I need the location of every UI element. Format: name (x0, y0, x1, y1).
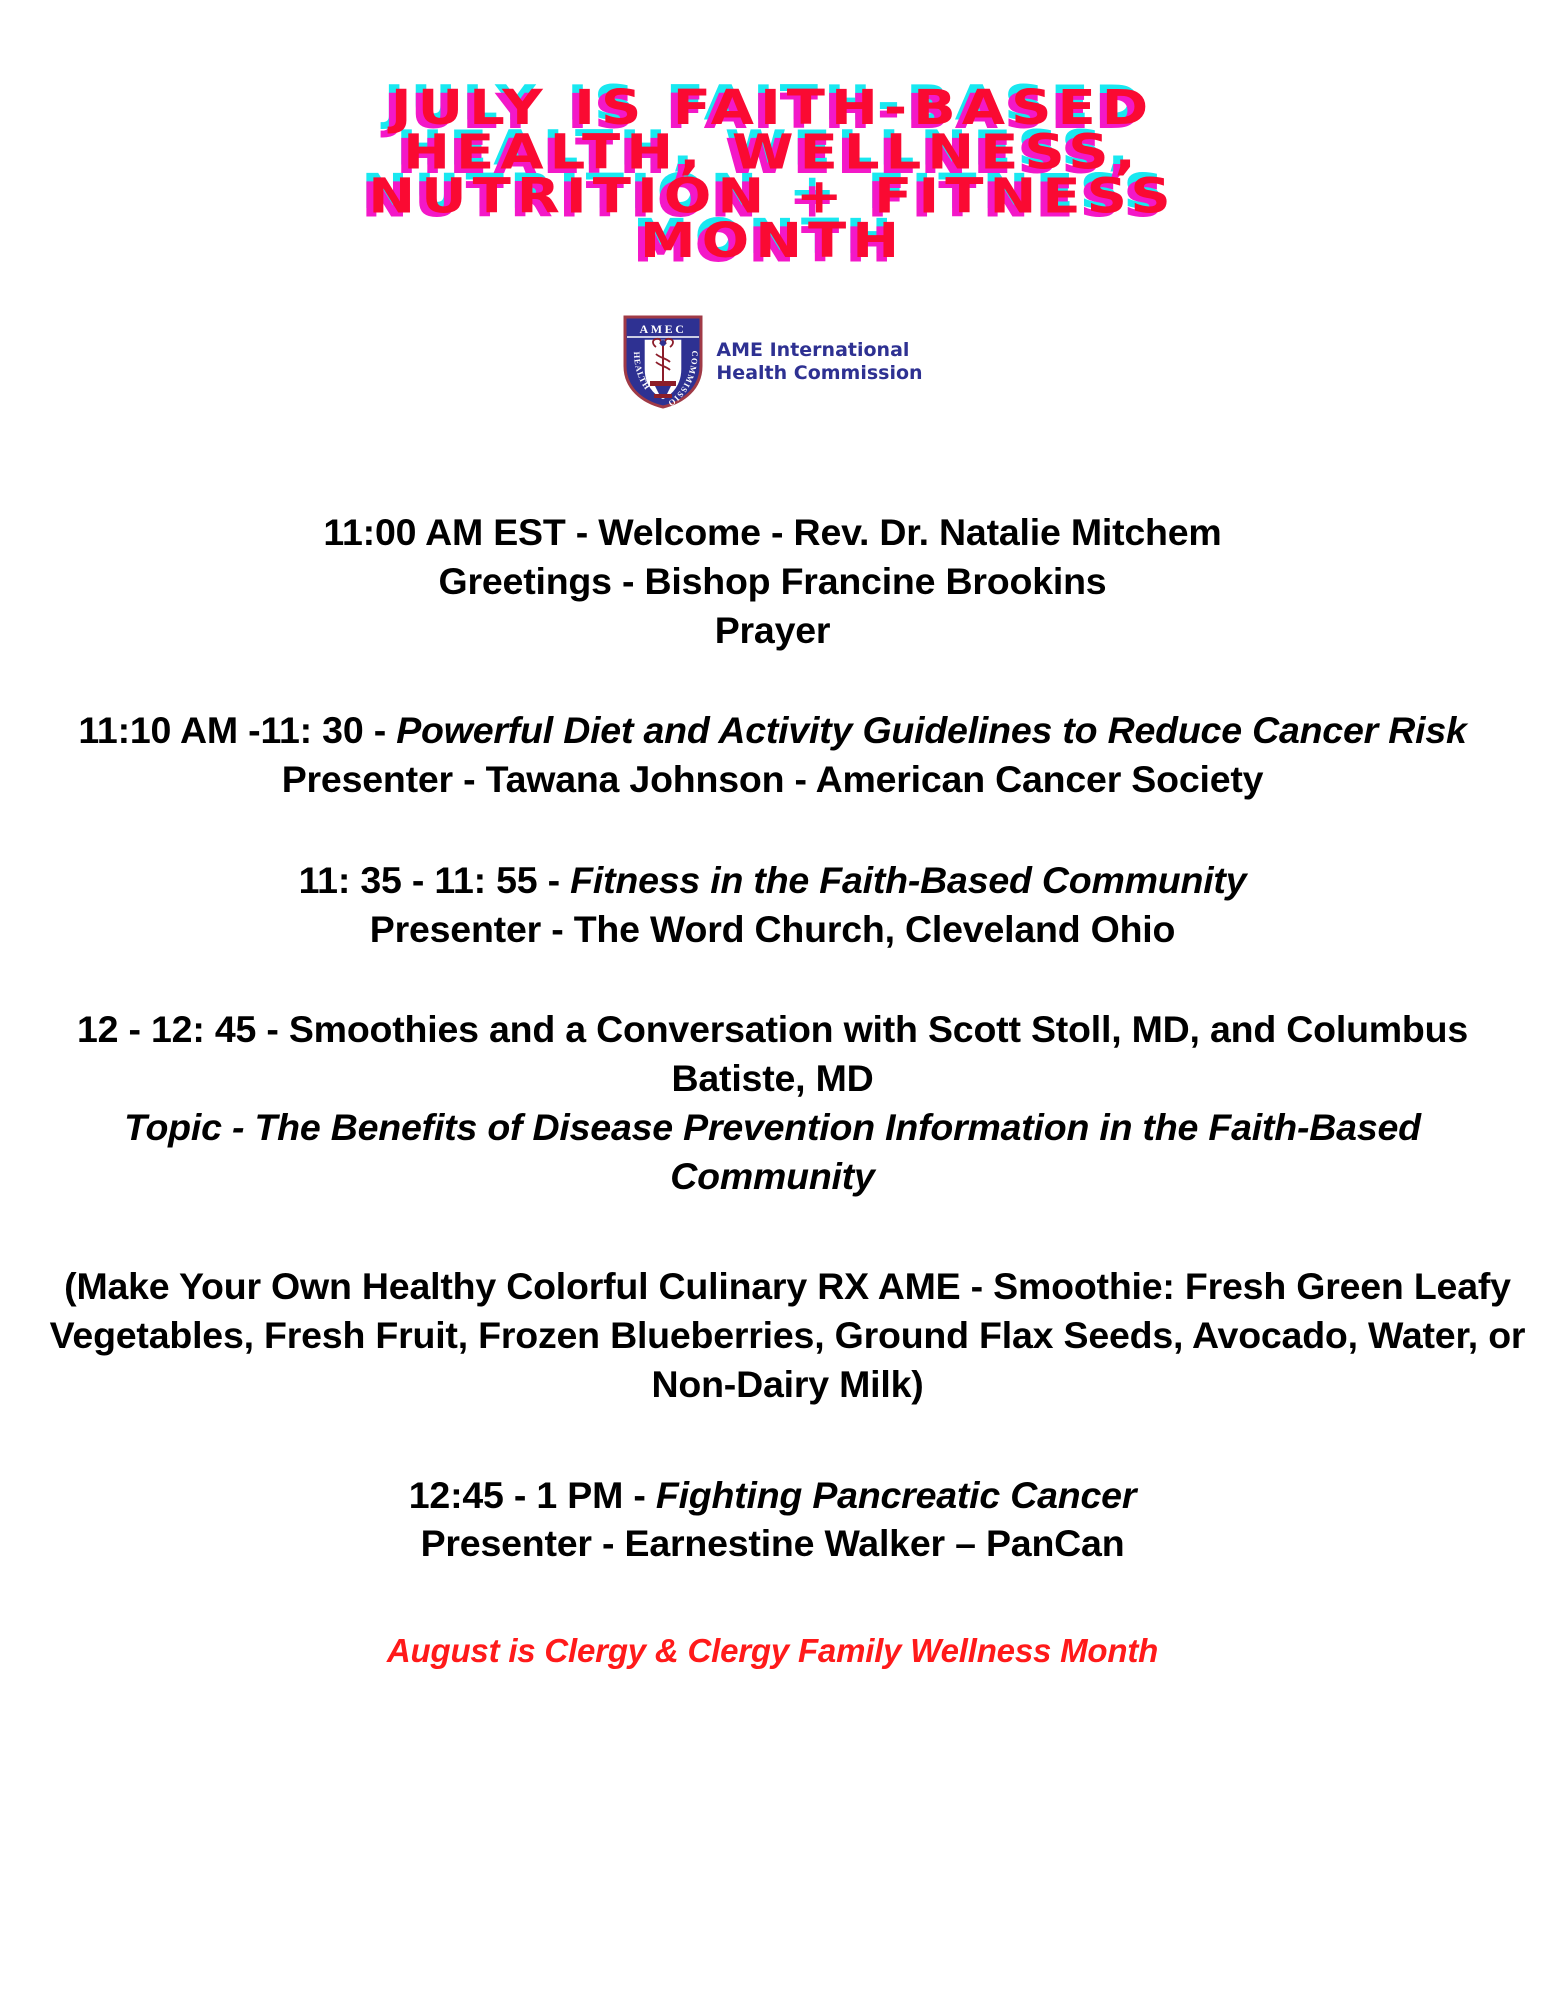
section-spacer (38, 804, 1508, 856)
agenda-content: 11:00 AM EST - Welcome - Rev. Dr. Natali… (38, 508, 1508, 1673)
title-line-3: NUTRITION + FITNESS NUTRITION + FITNESS … (368, 175, 1176, 219)
title-ghost-magenta: JULY IS FAITH-BASED (361, 90, 1169, 134)
pancreatic-presenter: Presenter - Earnestine Walker – PanCan (38, 1519, 1508, 1568)
title-text: JULY IS FAITH-BASED (391, 80, 1154, 136)
section-spacer (38, 1568, 1508, 1630)
welcome-line-2: Greetings - Bishop Francine Brookins (38, 557, 1508, 606)
fitness-time: 11: 35 - 11: 55 - (299, 859, 571, 901)
title-ghost-cyan: MONTH (361, 215, 1169, 259)
fitness-heading: 11: 35 - 11: 55 - Fitness in the Faith-B… (38, 856, 1508, 905)
session-fitness: 11: 35 - 11: 55 - Fitness in the Faith-B… (38, 856, 1508, 954)
title-line-4: MONTH MONTH MONTH (368, 219, 1176, 263)
organization-name: AME International Health Commission (716, 339, 922, 385)
title-text: HEALTH, WELLNESS, (403, 124, 1142, 180)
title-ghost-magenta: HEALTH, WELLNESS, (361, 135, 1169, 179)
flyer-page: JULY IS FAITH-BASED JULY IS FAITH-BASED … (0, 0, 1545, 2000)
title-line-1: JULY IS FAITH-BASED JULY IS FAITH-BASED … (368, 86, 1176, 130)
title-ghost-magenta: NUTRITION + FITNESS (361, 179, 1169, 223)
organization-name-line1: AME International (716, 339, 922, 362)
smoothies-topic: Topic - The Benefits of Disease Preventi… (38, 1103, 1508, 1201)
closing-announcement: August is Clergy & Clergy Family Wellnes… (38, 1630, 1508, 1673)
welcome-line-1: 11:00 AM EST - Welcome - Rev. Dr. Natali… (38, 508, 1508, 557)
flyer-header: JULY IS FAITH-BASED JULY IS FAITH-BASED … (0, 0, 1545, 292)
session-welcome: 11:00 AM EST - Welcome - Rev. Dr. Natali… (38, 508, 1508, 654)
section-spacer (38, 1409, 1508, 1471)
organization-logo-block: AMEC HEALTH COMMISSION (0, 314, 1545, 410)
section-spacer (38, 1200, 1508, 1262)
session-diet-activity: 11:10 AM -11: 30 - Powerful Diet and Act… (38, 706, 1508, 804)
smoothie-recipe-note: (Make Your Own Healthy Colorful Culinary… (38, 1262, 1538, 1408)
pancreatic-heading: 12:45 - 1 PM - Fighting Pancreatic Cance… (38, 1471, 1508, 1520)
title-text: MONTH (640, 213, 905, 269)
amec-shield-icon: AMEC HEALTH COMMISSION (622, 314, 704, 410)
title-ghost-cyan: JULY IS FAITH-BASED (361, 82, 1169, 126)
organization-name-line2: Health Commission (716, 362, 922, 385)
diet-presenter: Presenter - Tawana Johnson - American Ca… (38, 755, 1508, 804)
session-smoothies: 12 - 12: 45 - Smoothies and a Conversati… (38, 1005, 1508, 1200)
fitness-topic: Fitness in the Faith-Based Community (570, 859, 1246, 901)
title-ghost-magenta: MONTH (361, 223, 1169, 267)
welcome-line-3: Prayer (38, 606, 1508, 655)
diet-time: 11:10 AM -11: 30 - (78, 709, 396, 751)
session-pancreatic: 12:45 - 1 PM - Fighting Pancreatic Cance… (38, 1471, 1508, 1569)
title-ghost-cyan: NUTRITION + FITNESS (361, 170, 1169, 214)
title-ghost-cyan: HEALTH, WELLNESS, (361, 126, 1169, 170)
pancreatic-time: 12:45 - 1 PM - (409, 1474, 656, 1516)
diet-topic: Powerful Diet and Activity Guidelines to… (396, 709, 1466, 751)
diet-heading: 11:10 AM -11: 30 - Powerful Diet and Act… (38, 706, 1508, 755)
pancreatic-topic: Fighting Pancreatic Cancer (656, 1474, 1136, 1516)
section-spacer (38, 654, 1508, 706)
fitness-presenter: Presenter - The Word Church, Cleveland O… (38, 905, 1508, 954)
title-line-2: HEALTH, WELLNESS, HEALTH, WELLNESS, HEAL… (368, 130, 1176, 174)
svg-text:AMEC: AMEC (640, 322, 687, 336)
page-title: JULY IS FAITH-BASED JULY IS FAITH-BASED … (368, 86, 1176, 263)
smoothies-heading: 12 - 12: 45 - Smoothies and a Conversati… (38, 1005, 1508, 1103)
section-spacer (38, 953, 1508, 1005)
title-text: NUTRITION + FITNESS (368, 169, 1176, 225)
